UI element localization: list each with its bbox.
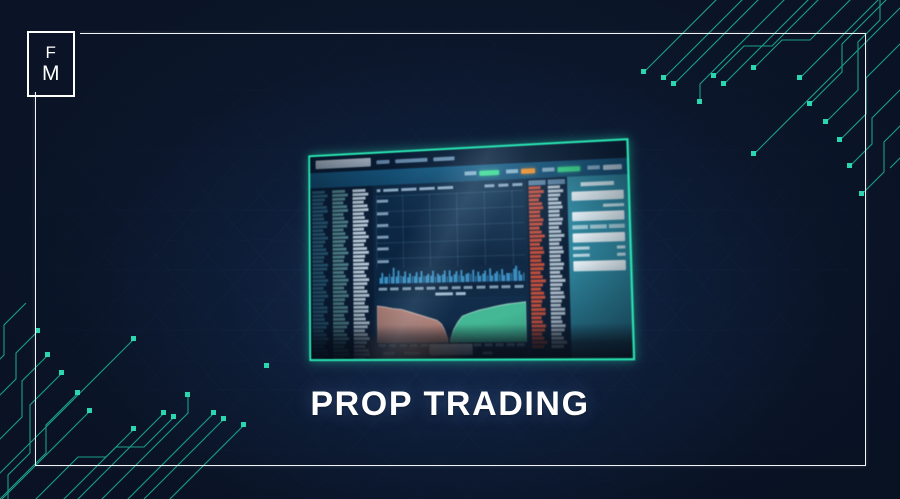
order-book-row (529, 222, 543, 226)
logo-letter-m: M (42, 63, 60, 84)
order-book-right[interactable] (526, 177, 571, 359)
order-book-row (353, 294, 369, 297)
order-book-row (529, 194, 541, 198)
order-book-row (313, 271, 324, 274)
order-book-row (549, 250, 564, 253)
order-book-row (354, 341, 367, 344)
axis-tick (378, 287, 387, 290)
ticker-value (603, 164, 622, 170)
fm-logo: F M (27, 31, 75, 97)
order-book-row (313, 314, 324, 317)
order-book-row (353, 243, 364, 246)
fee-value (617, 245, 626, 248)
order-book-row (333, 240, 346, 243)
order-book-row (531, 300, 543, 303)
order-book-row (531, 320, 543, 323)
app-body (310, 174, 633, 359)
order-book-row (312, 260, 323, 263)
order-book-row (532, 341, 547, 344)
axis-tick (474, 344, 482, 347)
order-book-row (353, 201, 364, 204)
order-book-row (530, 247, 543, 250)
order-book-row (550, 295, 565, 298)
order-book-row (354, 329, 365, 332)
order-book-row (548, 201, 562, 205)
order-book-row (333, 337, 349, 340)
order-book-row (551, 332, 561, 335)
order-book-row (548, 205, 563, 209)
axis-tick (389, 344, 397, 347)
order-book-row (530, 267, 544, 270)
order-book-row (312, 194, 328, 198)
chart-meta (377, 189, 381, 192)
order-book-row (354, 333, 368, 336)
order-book-row (333, 302, 344, 305)
menu-item-3[interactable] (433, 156, 454, 161)
order-book-row (313, 318, 325, 321)
axis-tick (502, 285, 511, 288)
order-book-row (531, 296, 546, 299)
trading-terminal (296, 142, 632, 364)
order-book-row (549, 242, 559, 245)
volume-bar (523, 272, 525, 281)
fee-row (573, 245, 626, 250)
order-book-row (552, 345, 564, 348)
order-book-row (531, 304, 541, 307)
order-book-row (353, 310, 368, 313)
order-book-row (333, 349, 348, 352)
axis-tick (439, 286, 448, 289)
order-book-row (333, 271, 344, 274)
order-book-row (313, 330, 324, 333)
order-book-left[interactable] (310, 186, 374, 359)
order-book-row (530, 239, 542, 242)
amount-input[interactable] (571, 190, 623, 201)
order-book-row (353, 302, 364, 305)
order-book-row (551, 337, 564, 340)
order-book-row (333, 263, 348, 266)
order-book-column (352, 188, 372, 359)
chart-meta (419, 187, 434, 191)
total-input[interactable] (573, 232, 626, 243)
order-book-row (312, 237, 328, 240)
axis-tick (484, 344, 492, 347)
order-book-row (532, 337, 545, 340)
order-book-row (530, 263, 544, 266)
order-book-row (353, 239, 366, 242)
order-book-row (353, 212, 365, 215)
axis-tick (489, 285, 498, 288)
submit-order-button[interactable] (573, 260, 626, 272)
order-book-row (532, 345, 544, 348)
order-book-row (333, 353, 348, 356)
order-book-row (333, 267, 348, 270)
percent-option[interactable] (608, 224, 624, 229)
order-book-row (529, 214, 540, 217)
order-book-row (313, 334, 326, 337)
order-book-row (312, 244, 323, 247)
order-book-row (354, 314, 365, 317)
order-book-row (551, 328, 564, 331)
order-book-row (353, 224, 368, 227)
order-book-row (354, 337, 370, 340)
order-book-row (332, 224, 346, 227)
order-book-column (548, 179, 570, 359)
order-book-row (551, 316, 562, 319)
axis-tick (377, 248, 388, 251)
order-book-row (333, 259, 344, 262)
order-book-row (531, 283, 544, 286)
order-book-row (333, 248, 347, 251)
order-book-row (313, 279, 329, 282)
order-book-row (529, 210, 540, 213)
order-book-row (312, 252, 327, 255)
order-book-row (531, 316, 541, 319)
balance-value (617, 253, 626, 256)
order-book-row (530, 271, 540, 274)
order-book-row (313, 322, 329, 325)
menu-item-2[interactable] (395, 157, 427, 163)
order-book-row (551, 308, 565, 311)
balance-label (573, 254, 590, 258)
order-book-row (549, 254, 560, 257)
order-book-row (333, 322, 349, 325)
order-book-row (333, 326, 347, 329)
ticker-label (587, 165, 600, 169)
order-book-row (354, 345, 365, 348)
axis-tick (377, 224, 388, 227)
empty-state (429, 344, 473, 361)
order-book-row (333, 310, 348, 313)
order-book-row (333, 318, 345, 321)
order-book-row (353, 286, 364, 289)
order-book-row (353, 306, 368, 309)
ticker-item-4 (587, 164, 622, 171)
order-book-row (549, 234, 564, 238)
ticker-value (521, 168, 535, 174)
order-book-row (332, 209, 347, 212)
order-book-row (333, 294, 349, 297)
order-book-row (333, 287, 344, 290)
panel-tab[interactable] (483, 351, 493, 354)
order-book-row (313, 287, 324, 290)
order-book-row (353, 208, 368, 212)
chart-panel (373, 179, 530, 359)
search-input[interactable] (316, 158, 371, 169)
order-book-row (531, 308, 545, 311)
order-book-row (333, 330, 344, 333)
volume-histogram (377, 264, 526, 286)
axis-tick (377, 200, 388, 203)
order-book-row (532, 329, 545, 332)
order-book-row (313, 306, 328, 309)
order-book-row (353, 270, 364, 273)
order-book-row (529, 226, 539, 229)
order-book-row (532, 324, 547, 327)
order-book-row (333, 279, 349, 282)
monitor-body (305, 134, 640, 365)
ticker-label (542, 168, 554, 172)
order-book-row (551, 304, 562, 307)
order-book-row (550, 291, 563, 294)
field-label (603, 203, 624, 207)
order-book-row (529, 218, 544, 222)
order-book-row (313, 345, 324, 348)
order-book-row (333, 345, 344, 348)
axis-tick (515, 285, 524, 288)
order-book-row (313, 341, 326, 344)
panel-tab[interactable] (383, 352, 394, 355)
form-title (581, 181, 614, 187)
order-book-row (313, 357, 324, 360)
order-book-row (313, 353, 328, 356)
order-book-row (332, 228, 343, 231)
order-entry-form[interactable] (567, 174, 633, 358)
order-book-row (333, 314, 344, 317)
axis-tick (415, 287, 424, 290)
order-book-row (548, 197, 558, 200)
axis-tick (506, 344, 514, 347)
order-book-row (548, 210, 559, 213)
order-book-row (551, 324, 566, 327)
order-book-row (548, 189, 563, 193)
order-book-row (333, 275, 346, 278)
order-book-row (550, 299, 562, 302)
order-book-row (313, 338, 329, 341)
order-book-row (353, 263, 369, 266)
axis-tick (495, 344, 503, 347)
order-book-row (312, 214, 323, 217)
order-book-row (312, 256, 324, 259)
axis-tick (464, 286, 473, 289)
order-book-row (353, 255, 365, 258)
axis-tick (390, 287, 399, 290)
order-book-row (353, 290, 367, 293)
order-book-row (353, 274, 366, 277)
order-book-row (531, 292, 544, 295)
price-input[interactable] (572, 210, 625, 221)
chart-toolbar[interactable] (484, 183, 522, 188)
order-book-row (353, 251, 369, 254)
order-book-row (333, 357, 345, 360)
ticker-item-3 (542, 166, 580, 173)
banner-canvas: F M (0, 0, 900, 499)
order-book-row (529, 198, 539, 201)
order-book-row (333, 298, 345, 301)
percent-selector[interactable] (572, 224, 624, 230)
order-book-row (354, 357, 366, 360)
order-book-row (333, 306, 348, 309)
order-book-row (548, 193, 560, 197)
order-book-row (530, 251, 545, 254)
order-book-row (550, 267, 564, 270)
order-book-row (532, 333, 542, 336)
order-book-row (550, 279, 565, 282)
order-book-row (530, 243, 540, 246)
order-book-row (312, 229, 323, 232)
order-book-row (353, 278, 369, 281)
circuit-trace-top-right (604, 0, 900, 204)
axis-tick (377, 260, 388, 263)
order-book-row (313, 310, 328, 313)
chart-meta (438, 186, 454, 190)
order-book-column (312, 190, 331, 360)
axis-tick (452, 286, 461, 289)
order-book-row (332, 201, 343, 204)
order-book-row (313, 291, 327, 294)
market-depth-chart[interactable] (377, 296, 527, 344)
order-book-row (354, 349, 369, 352)
chart-tool-button[interactable] (512, 183, 522, 186)
axis-tick (410, 344, 418, 347)
axis-tick (403, 287, 412, 290)
order-book-row (353, 266, 368, 269)
axis-tick (377, 236, 388, 239)
ticker-value (479, 169, 499, 175)
empty-state-box (429, 344, 472, 355)
order-book-row (313, 299, 325, 302)
order-book-row (332, 194, 348, 198)
order-book-row (550, 275, 562, 278)
panel-tab[interactable] (404, 352, 419, 355)
candle-series (392, 192, 522, 266)
fee-label (573, 246, 590, 250)
candlestick-chart[interactable] (376, 189, 525, 267)
monitor-screen (308, 138, 635, 361)
order-book-row (353, 259, 365, 262)
order-book-row (529, 202, 543, 206)
order-book-row (312, 210, 327, 213)
chart-tool-button[interactable] (484, 184, 494, 187)
order-book-row (353, 235, 369, 238)
order-book-row (313, 275, 325, 278)
order-book-row (353, 216, 365, 219)
order-book-row (551, 341, 566, 344)
order-book-row (312, 225, 326, 228)
page-title: PROP TRADING (0, 385, 900, 424)
percent-option[interactable] (572, 225, 588, 230)
axis-tick (399, 344, 407, 347)
ticker-item-2 (506, 168, 535, 174)
axis-tick (420, 344, 428, 347)
order-book-row (531, 288, 541, 291)
order-book-row (353, 282, 367, 285)
balance-row (573, 253, 626, 258)
order-book-row (354, 325, 368, 328)
price-axis (377, 195, 391, 268)
order-book-row (353, 247, 367, 250)
order-book-row (333, 333, 347, 336)
order-book-row (551, 320, 563, 323)
axis-tick (477, 285, 486, 288)
order-book-row (550, 287, 560, 290)
order-book-row (353, 298, 365, 301)
order-book-row (548, 214, 559, 217)
order-book-row (352, 193, 368, 197)
ticker-value (557, 166, 580, 172)
order-book-column (528, 180, 549, 359)
order-book-row (549, 246, 563, 249)
axis-tick (427, 286, 436, 289)
ticker-label (465, 171, 477, 175)
order-book-row (354, 317, 366, 320)
order-book-row (332, 232, 345, 235)
order-book-row (529, 206, 543, 210)
axis-tick (377, 212, 388, 215)
depth-title-text (435, 292, 453, 295)
order-book-row (529, 230, 541, 233)
chart-tool-button[interactable] (498, 184, 508, 187)
column-header (528, 180, 545, 186)
order-book-row (313, 326, 327, 329)
ticker-label (506, 169, 518, 173)
order-book-row (549, 226, 559, 229)
order-book-column (332, 189, 352, 359)
order-book-row (312, 218, 324, 221)
order-book-row (549, 230, 561, 233)
order-book-row (312, 202, 323, 205)
order-book-row (353, 231, 366, 234)
order-book-row (530, 234, 545, 238)
order-book-row (531, 312, 545, 315)
order-book-row (549, 218, 564, 222)
order-book-row (313, 295, 329, 298)
order-book-row (354, 353, 370, 356)
order-book-row (312, 248, 326, 251)
order-book-row (312, 264, 327, 267)
order-book-row (333, 290, 347, 293)
order-book-row (333, 341, 346, 344)
order-book-row (313, 302, 324, 305)
order-book-row (531, 279, 546, 282)
order-book-row (332, 213, 343, 216)
order-book-row (551, 312, 565, 315)
order-book-row (550, 283, 563, 286)
order-book-row (313, 349, 328, 352)
menu-item-1[interactable] (376, 159, 389, 164)
order-book-row (354, 321, 370, 324)
order-book-row (549, 258, 560, 261)
order-book-row (530, 275, 542, 278)
order-book-row (528, 186, 540, 190)
axis-tick (517, 343, 525, 346)
positions-panel[interactable] (377, 348, 527, 358)
order-book-row (333, 255, 345, 258)
order-book-row (549, 222, 563, 226)
order-book-row (529, 190, 544, 194)
order-book-row (333, 244, 344, 247)
order-book-row (530, 259, 541, 262)
order-book-row (550, 271, 560, 274)
order-book-row (530, 255, 541, 258)
axis-tick (379, 344, 387, 347)
percent-option[interactable] (590, 224, 606, 229)
order-book-row (333, 283, 347, 286)
order-book-row (353, 228, 364, 231)
logo-letter-f: F (46, 44, 57, 61)
ticker-item-1 (465, 169, 500, 176)
order-book-row (312, 233, 325, 236)
order-book-row (332, 236, 348, 239)
order-book-row (332, 217, 344, 220)
order-book-row (550, 262, 565, 265)
order-book-row (313, 283, 326, 286)
column-header (548, 179, 566, 185)
chart-meta (383, 189, 398, 193)
order-book-row (312, 241, 325, 244)
empty-state-label (443, 358, 459, 361)
chart-meta (401, 188, 416, 192)
